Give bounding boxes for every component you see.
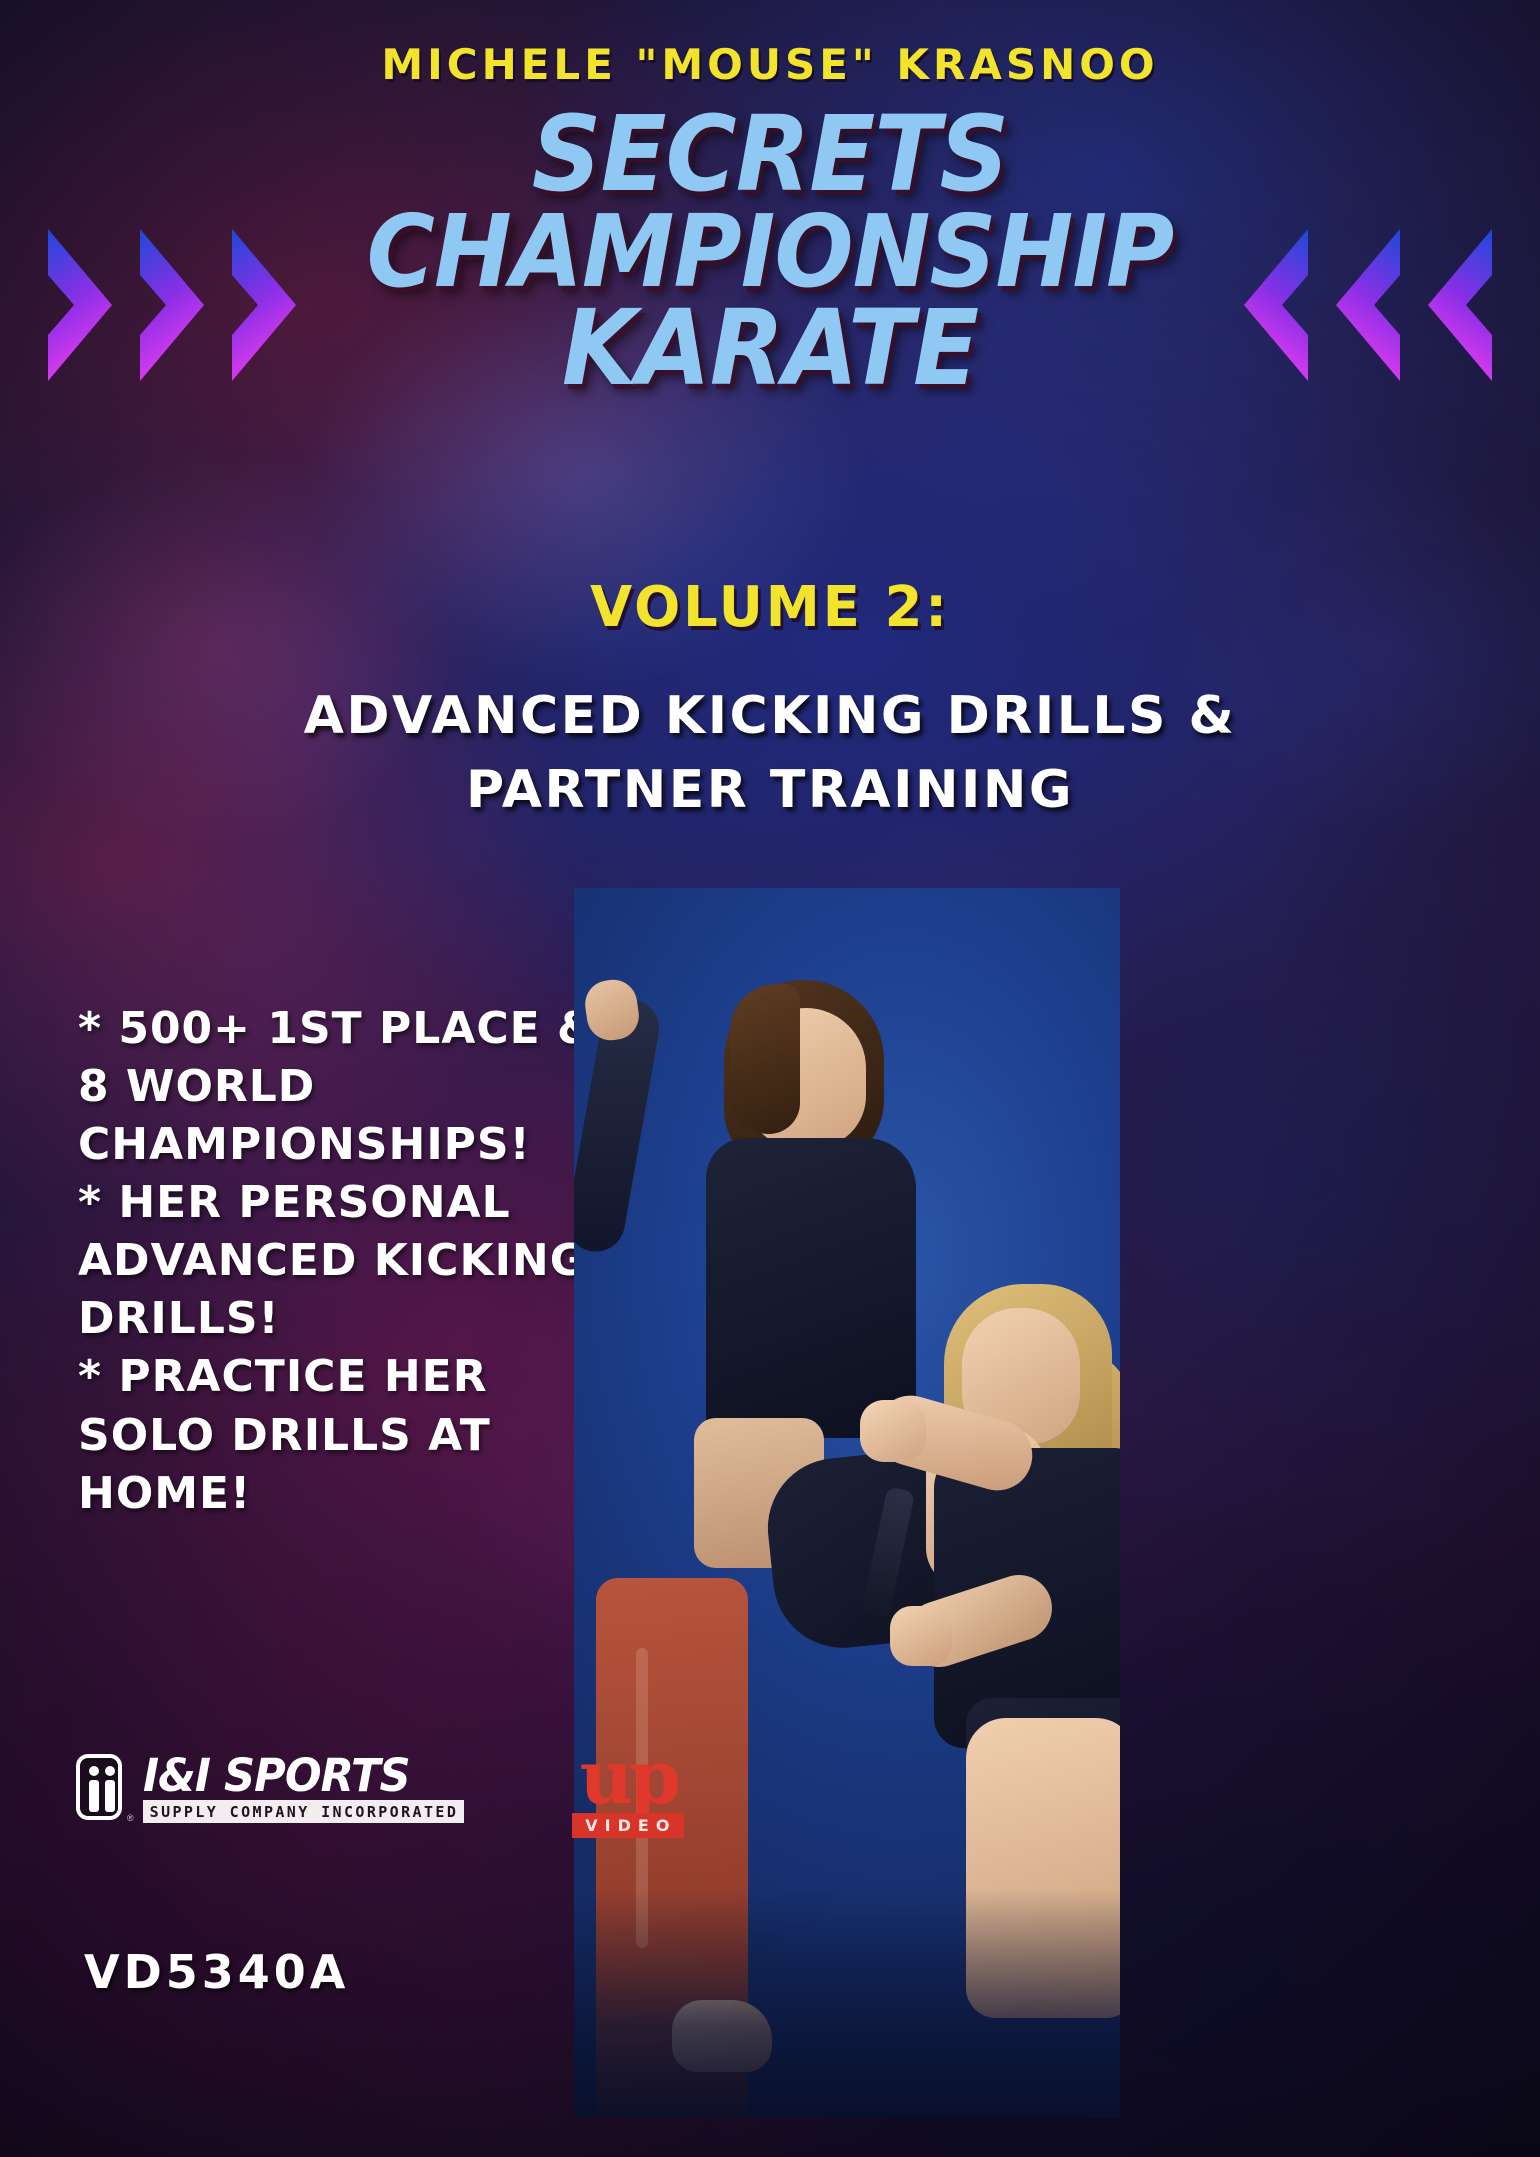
fighter-a-top — [706, 1138, 916, 1438]
fighter-b-fist-upper — [860, 1400, 926, 1462]
title-line-championship: CHAMPIONSHIP — [54, 204, 1486, 299]
fighter-b-fist-lower — [890, 1606, 952, 1666]
title-line-secrets: SECRETS — [54, 105, 1486, 204]
subtitle-line-1: ADVANCED KICKING DRILLS & — [60, 680, 1480, 754]
logo-row: ® I&I SPORTS SUPPLY COMPANY INCORPORATED… — [76, 1754, 684, 1838]
ii-sports-name: I&I SPORTS — [143, 1754, 452, 1797]
title-line-karate: KARATE — [54, 299, 1486, 398]
main-title: SECRETS CHAMPIONSHIP KARATE — [54, 105, 1486, 398]
photo-floor-shadow — [574, 1888, 1120, 2118]
registered-trademark-icon: ® — [127, 1813, 134, 1823]
feature-bullet-list: * 500+ 1ST PLACE & 8 WORLD CHAMPIONSHIPS… — [78, 1000, 608, 1523]
cover-photo — [574, 888, 1120, 2118]
subtitle-line-2: PARTNER TRAINING — [60, 754, 1480, 828]
catalog-number: VD5340A — [84, 1945, 349, 1999]
ii-sports-logo: ® I&I SPORTS SUPPLY COMPANY INCORPORATED — [76, 1754, 464, 1823]
ii-sports-tagline: SUPPLY COMPANY INCORPORATED — [143, 1800, 465, 1823]
up-video-label: VIDEO — [572, 1813, 684, 1838]
subtitle: ADVANCED KICKING DRILLS & PARTNER TRAINI… — [60, 680, 1480, 828]
ii-sports-mark-icon — [76, 1754, 122, 1820]
dvd-cover: MICHELE "MOUSE" KRASNOO SECRETS CHAMPION… — [0, 0, 1540, 2157]
up-video-logo: up VIDEO — [572, 1748, 684, 1838]
author-name: MICHELE "MOUSE" KRASNOO — [0, 40, 1540, 89]
up-video-wordmark: up — [580, 1748, 678, 1809]
fighter-a-hair-front — [730, 984, 800, 1134]
volume-label: VOLUME 2: — [23, 575, 1517, 640]
